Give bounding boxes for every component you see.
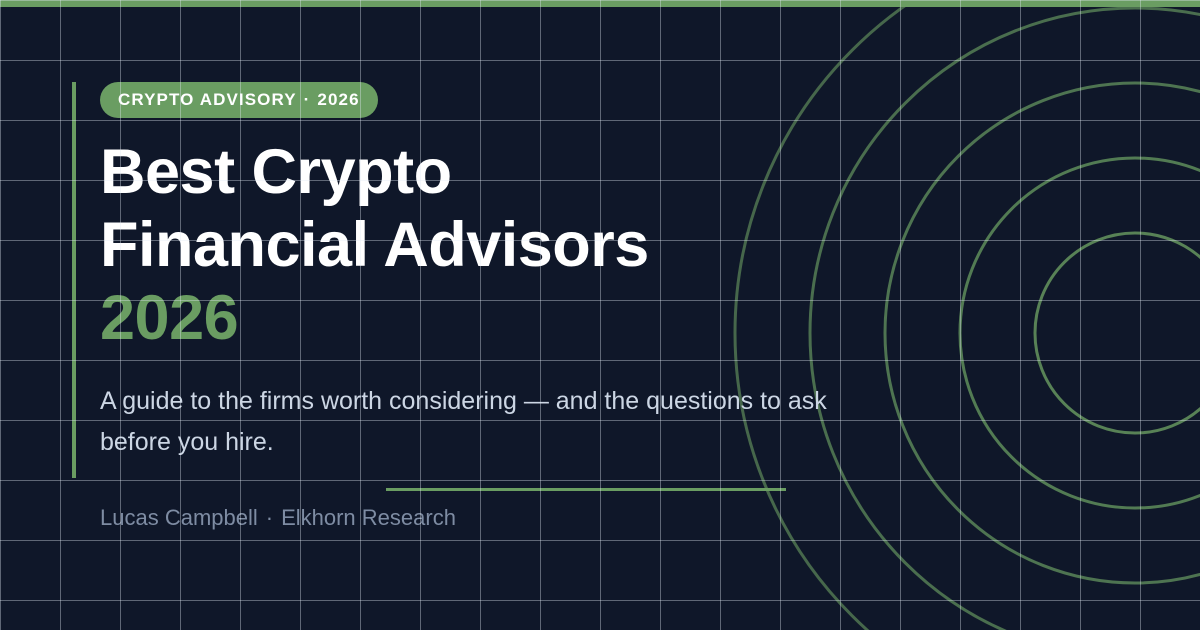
page-title-line-2: Financial Advisors	[100, 209, 1072, 282]
poster-content: CRYPTO ADVISORY·2026 Best Crypto Financi…	[72, 82, 1072, 531]
badge-separator: ·	[297, 90, 318, 109]
byline-organization: Elkhorn Research	[281, 505, 456, 530]
page-title-line-1: Best Crypto	[100, 136, 1072, 209]
left-accent-bar	[72, 82, 76, 478]
poster-canvas: CRYPTO ADVISORY·2026 Best Crypto Financi…	[0, 0, 1200, 630]
page-subtitle: A guide to the firms worth considering —…	[100, 381, 900, 462]
byline-separator: ·	[258, 505, 281, 530]
page-title-year: 2026	[100, 282, 1072, 355]
badge-year: 2026	[317, 90, 359, 109]
byline-author: Lucas Campbell	[100, 505, 258, 530]
page-title: Best Crypto Financial Advisors 2026	[100, 136, 1072, 355]
category-badge-text: CRYPTO ADVISORY·2026	[118, 82, 360, 118]
byline-divider	[386, 488, 786, 491]
category-badge: CRYPTO ADVISORY·2026	[100, 82, 1072, 118]
byline: Lucas Campbell·Elkhorn Research	[100, 505, 1072, 531]
top-accent-bar	[0, 0, 1200, 7]
badge-label: CRYPTO ADVISORY	[118, 90, 297, 109]
